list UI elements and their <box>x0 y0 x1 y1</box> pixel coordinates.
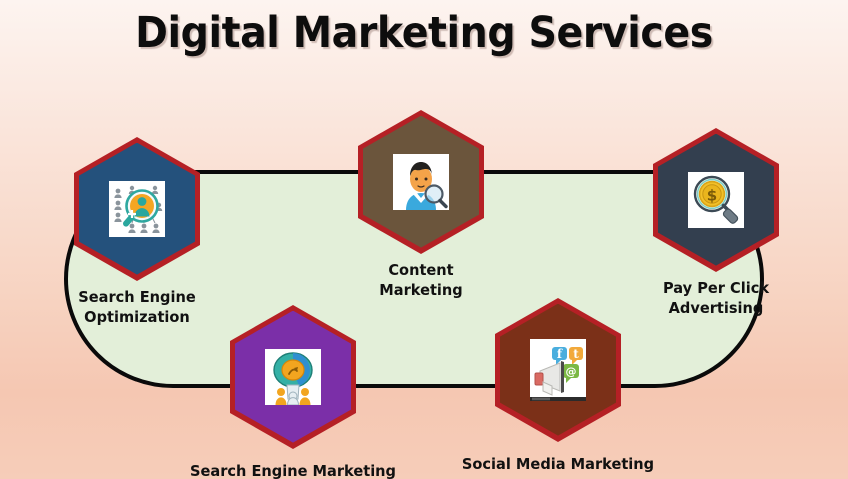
hexagon-search-engine-marketing[interactable] <box>230 305 356 449</box>
node-label-content-marketing: Content Marketing <box>362 260 480 301</box>
node-label-sem-line1: Search Engine Marketing <box>171 461 415 479</box>
node-content-marketing[interactable]: Content Marketing <box>358 110 484 301</box>
megaphone-social-bubbles-icon: f t @ <box>530 339 586 401</box>
svg-text:$: $ <box>707 186 717 204</box>
node-label-smm-line1: Social Media Marketing <box>436 454 680 474</box>
node-pay-per-click-advertising[interactable]: $ Pay Per Click Advertising <box>653 128 779 319</box>
hexagon-seo-fill <box>79 143 195 275</box>
person-magnifier-icon <box>393 154 449 210</box>
node-label-social-media-marketing: Social Media Marketing <box>436 454 680 474</box>
svg-text:f: f <box>557 347 563 361</box>
hexagon-content-marketing[interactable] <box>358 110 484 254</box>
hexagon-seo[interactable] <box>74 137 200 281</box>
hexagon-social-media-marketing-fill: f t @ <box>500 304 616 436</box>
hexagon-social-media-marketing[interactable]: f t @ <box>495 298 621 442</box>
infographic-canvas: Digital Marketing Services <box>0 0 848 479</box>
dollar-coin-magnifier-icon: $ <box>688 172 744 228</box>
node-label-seo: Search Engine Optimization <box>78 287 196 328</box>
hexagon-content-marketing-fill <box>363 116 479 248</box>
node-label-ppc-line1: Pay Per Click <box>657 278 775 298</box>
node-social-media-marketing[interactable]: f t @ <box>495 298 621 474</box>
node-label-ppc-line2: Advertising <box>657 298 775 318</box>
node-label-cm-line2: Marketing <box>362 280 480 300</box>
hexagon-pay-per-click-fill: $ <box>658 134 774 266</box>
node-search-engine-optimization[interactable]: Search Engine Optimization <box>74 137 200 328</box>
node-label-cm-line1: Content <box>362 260 480 280</box>
hexagon-search-engine-marketing-fill <box>235 311 351 443</box>
people-network-magnifier-icon <box>109 181 165 237</box>
pie-chart-dollar-people-icon <box>265 349 321 405</box>
svg-text:@: @ <box>566 365 577 378</box>
hexagon-pay-per-click[interactable]: $ <box>653 128 779 272</box>
node-label-seo-line1: Search Engine <box>78 287 196 307</box>
node-search-engine-marketing[interactable]: Search Engine Marketing <box>230 305 356 479</box>
node-label-pay-per-click: Pay Per Click Advertising <box>657 278 775 319</box>
svg-text:t: t <box>573 347 579 361</box>
node-label-search-engine-marketing: Search Engine Marketing <box>171 461 415 479</box>
node-label-seo-line2: Optimization <box>78 307 196 327</box>
page-title: Digital Marketing Services <box>34 8 814 58</box>
